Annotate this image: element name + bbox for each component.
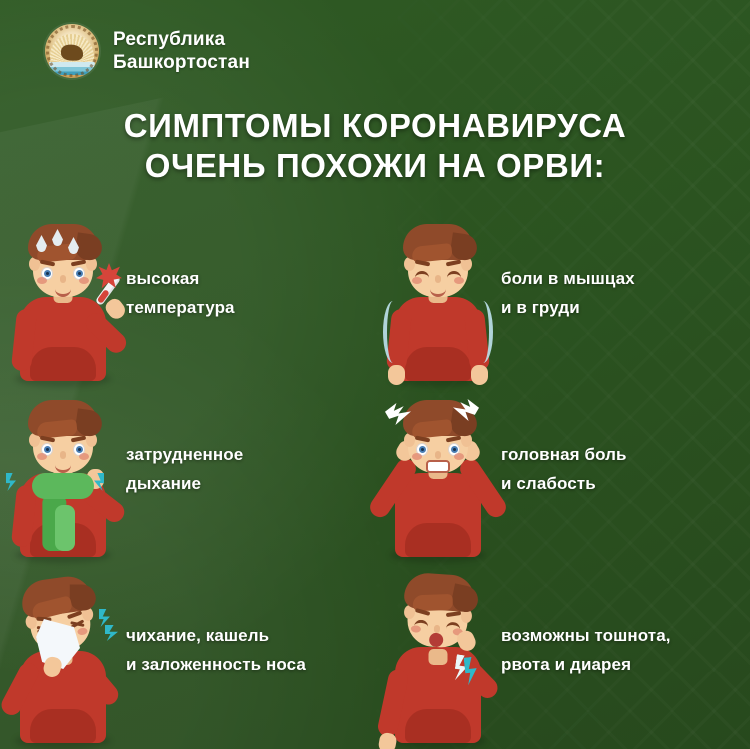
caption-line-1: головная боль: [501, 440, 627, 469]
header-title: Республика Башкортостан: [113, 28, 250, 74]
header-line-2: Башкортостан: [113, 52, 250, 73]
person-with-scarf-sore-throat-icon: [0, 381, 126, 557]
symptom-grid: высокая температура: [0, 205, 750, 745]
caption-line-2: дыхание: [126, 469, 243, 498]
emblem-ring: [46, 25, 98, 77]
symptom-caption-nausea-vomiting-diarrhea: возможны тошнота, рвота и диарея: [501, 621, 671, 679]
symptom-item-headache-weakness: головная боль и слабость: [375, 381, 750, 557]
symptom-item-fever: высокая температура: [0, 205, 375, 381]
symptom-caption-muscle-chest-pain: боли в мышцах и в груди: [501, 264, 635, 322]
person-holding-head-icon: [375, 381, 501, 557]
symptom-item-breathing-difficulty: затрудненное дыхание: [0, 381, 375, 557]
caption-line-1: высокая: [126, 264, 235, 293]
person-sneezing-tissue-icon: [0, 557, 126, 743]
symptom-caption-headache-weakness: головная боль и слабость: [501, 440, 627, 498]
symptom-item-muscle-chest-pain: боли в мышцах и в груди: [375, 205, 750, 381]
symptom-item-nausea-vomiting-diarrhea: возможны тошнота, рвота и диарея: [375, 557, 750, 743]
caption-line-2: рвота и диарея: [501, 650, 671, 679]
coat-of-arms-icon: [45, 24, 99, 78]
caption-line-2: температура: [126, 293, 235, 322]
symptom-caption-fever: высокая температура: [126, 264, 235, 322]
caption-line-1: боли в мышцах: [501, 264, 635, 293]
caption-line-1: возможны тошнота,: [501, 621, 671, 650]
person-feeling-nauseous-icon: [375, 557, 501, 743]
person-with-body-aches-icon: [375, 205, 501, 381]
symptom-item-sneezing-cough: чихание, кашель и заложенность носа: [0, 557, 375, 743]
caption-line-2: и заложенность носа: [126, 650, 306, 679]
caption-line-1: чихание, кашель: [126, 621, 306, 650]
title-line-2: ОЧЕНЬ ПОХОЖИ НА ОРВИ:: [0, 146, 750, 186]
infographic-poster: Республика Башкортостан СИМПТОМЫ КОРОНАВ…: [0, 0, 750, 749]
caption-line-1: затрудненное: [126, 440, 243, 469]
title-line-1: СИМПТОМЫ КОРОНАВИРУСА: [124, 107, 627, 144]
caption-line-2: и слабость: [501, 469, 627, 498]
caption-line-2: и в груди: [501, 293, 635, 322]
page-title: СИМПТОМЫ КОРОНАВИРУСА ОЧЕНЬ ПОХОЖИ НА ОР…: [0, 106, 750, 187]
person-with-thermometer-icon: [0, 205, 126, 381]
header-line-1: Республика: [113, 29, 225, 50]
header: Республика Башкортостан: [45, 24, 250, 78]
symptom-caption-sneezing-cough: чихание, кашель и заложенность носа: [126, 621, 306, 679]
symptom-caption-breathing-difficulty: затрудненное дыхание: [126, 440, 243, 498]
